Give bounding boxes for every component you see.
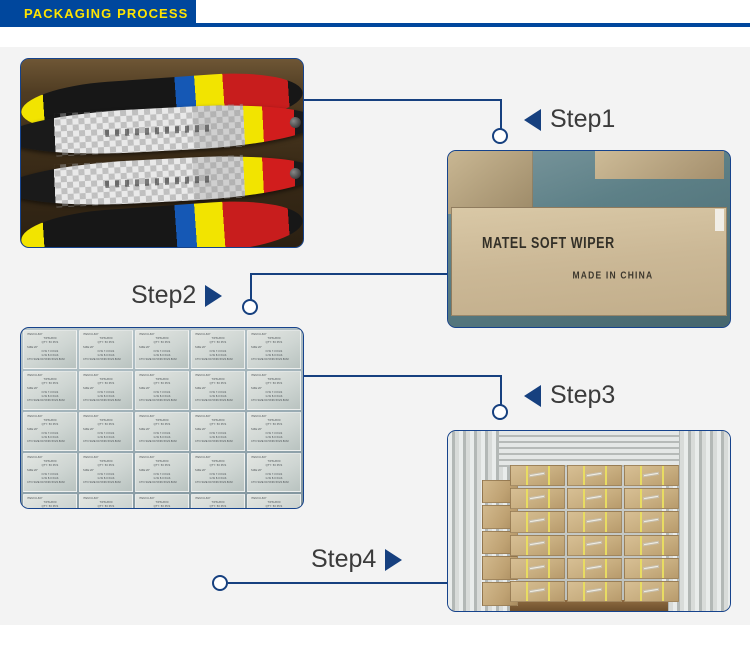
carton-shipping-mark: ITEM:CL607TIPSUP20QTY: 50 PCSSIZE:20"N.W… (195, 415, 241, 444)
triangle-left-icon (524, 385, 541, 407)
carton-shipping-mark: ITEM:CL607TIPSUP20QTY: 50 PCSSIZE:20"N.W… (27, 374, 73, 403)
carton-shipping-mark: ITEM:CL607TIPSUP20QTY: 50 PCSSIZE:20"N.W… (251, 497, 297, 509)
carton-shipping-mark: ITEM:CL607TIPSUP20QTY: 50 PCSSIZE:20"N.W… (251, 456, 297, 485)
photo2-background-carton-top (595, 151, 725, 179)
carton-tag (643, 472, 659, 478)
triangle-right-icon (385, 549, 402, 571)
container-carton (567, 511, 622, 532)
carton-label-cell: ITEM:CL607TIPSUP20QTY: 50 PCSSIZE:20"N.W… (135, 453, 189, 492)
carton-shipping-mark: ITEM:CL607TIPSUP20QTY: 50 PCSSIZE:20"N.W… (27, 415, 73, 444)
connector-step3-horizontal (303, 375, 502, 377)
carton-label-cell: ITEM:CL607TIPSUP20QTY: 50 PCSSIZE:20"N.W… (191, 371, 245, 410)
step-label-step2: Step2 (131, 282, 222, 309)
carton-label-cell: ITEM:CL607TIPSUP20QTY: 50 PCSSIZE:20"N.W… (23, 330, 77, 369)
page-header: PACKAGING PROCESS (0, 0, 750, 27)
container-carton (510, 511, 565, 532)
container-carton (510, 488, 565, 509)
carton-label-cell: ITEM:CL607TIPSUP20QTY: 50 PCSSIZE:20"N.W… (23, 371, 77, 410)
carton-shipping-mark: ITEM:CL607TIPSUP20QTY: 50 PCSSIZE:20"N.W… (139, 456, 185, 485)
carton-tag (529, 495, 545, 501)
carton-brand-text: MATEL SOFT WIPER (482, 234, 615, 252)
container-carton (624, 488, 679, 509)
carton-label-cell: ITEM:CL607TIPSUP20QTY: 50 PCSSIZE:20"N.W… (79, 494, 133, 509)
carton-label-cell: ITEM:CL607TIPSUP20QTY: 50 PCSSIZE:20"N.W… (23, 412, 77, 451)
carton-label-cell: ITEM:CL607TIPSUP20QTY: 50 PCSSIZE:20"N.W… (191, 494, 245, 509)
photo-container-loading (447, 430, 731, 612)
connector-step2-horizontal (250, 273, 448, 275)
carton-label-cell: ITEM:CL607TIPSUP20QTY: 50 PCSSIZE:20"N.W… (191, 412, 245, 451)
container-carton (624, 465, 679, 486)
container-carton (567, 558, 622, 579)
carton-label-cell: ITEM:CL607TIPSUP20QTY: 50 PCSSIZE:20"N.W… (135, 371, 189, 410)
carton-tag (643, 588, 659, 594)
carton-shipping-mark: ITEM:CL607TIPSUP20QTY: 50 PCSSIZE:20"N.W… (83, 456, 129, 485)
carton-label-cell: ITEM:CL607TIPSUP20QTY: 50 PCSSIZE:20"N.W… (247, 412, 301, 451)
carton-tag (643, 541, 659, 547)
photo-master-carton: MATEL SOFT WIPER MADE IN CHINA (447, 150, 731, 328)
carton-label-cell: ITEM:CL607TIPSUP20QTY: 50 PCSSIZE:20"N.W… (191, 330, 245, 369)
step2-text: Step2 (131, 282, 196, 309)
carton-shipping-mark: ITEM:CL607TIPSUP20QTY: 50 PCSSIZE:20"N.W… (83, 415, 129, 444)
photo3-carton-grid: ITEM:CL607TIPSUP20QTY: 50 PCSSIZE:20"N.W… (21, 328, 303, 508)
step-label-step3: Step3 (524, 382, 615, 409)
photo-wiper-blades (20, 58, 304, 248)
triangle-left-icon (524, 109, 541, 131)
container-carton (624, 535, 679, 556)
photo2-tape (715, 209, 724, 231)
photo2-背景-carton-left (448, 151, 533, 214)
photo-stacked-cartons: ITEM:CL607TIPSUP20QTY: 50 PCSSIZE:20"N.W… (20, 327, 304, 509)
carton-label-cell: ITEM:CL607TIPSUP20QTY: 50 PCSSIZE:20"N.W… (135, 412, 189, 451)
carton-label-cell: ITEM:CL607TIPSUP20QTY: 50 PCSSIZE:20"N.W… (79, 371, 133, 410)
node-step2 (242, 299, 258, 315)
step4-text: Step4 (311, 546, 376, 573)
container-carton (510, 581, 565, 602)
packaging-process-page: PACKAGING PROCESS Step1 Step2 Step3 Step… (0, 0, 750, 650)
triangle-right-icon (205, 285, 222, 307)
container-carton (567, 581, 622, 602)
step1-text: Step1 (550, 106, 615, 133)
carton-shipping-mark: ITEM:CL607TIPSUP20QTY: 50 PCSSIZE:20"N.W… (251, 415, 297, 444)
carton-tag (529, 472, 545, 477)
carton-tag (586, 472, 602, 478)
carton-tag (586, 495, 602, 501)
carton-shipping-mark: ITEM:CL607TIPSUP20QTY: 50 PCSSIZE:20"N.W… (251, 333, 297, 362)
header-rule (196, 23, 750, 27)
carton-shipping-mark: ITEM:CL607TIPSUP20QTY: 50 PCSSIZE:20"N.W… (139, 497, 185, 509)
carton-tag (529, 588, 545, 593)
carton-tag (643, 518, 659, 524)
carton-label-cell: ITEM:CL607TIPSUP20QTY: 50 PCSSIZE:20"N.W… (247, 453, 301, 492)
container-carton (510, 465, 565, 486)
container-carton (510, 558, 565, 579)
carton-label-cell: ITEM:CL607TIPSUP20QTY: 50 PCSSIZE:20"N.W… (247, 330, 301, 369)
carton-shipping-mark: ITEM:CL607TIPSUP20QTY: 50 PCSSIZE:20"N.W… (139, 333, 185, 362)
carton-shipping-mark: ITEM:CL607TIPSUP20QTY: 50 PCSSIZE:20"N.W… (83, 333, 129, 362)
carton-tag (643, 564, 659, 570)
carton-tag (586, 564, 602, 570)
carton-label-cell: ITEM:CL607TIPSUP20QTY: 50 PCSSIZE:20"N.W… (247, 371, 301, 410)
carton-shipping-mark: ITEM:CL607TIPSUP20QTY: 50 PCSSIZE:20"N.W… (195, 456, 241, 485)
photo4-main-stack (510, 465, 679, 602)
carton-shipping-mark: ITEM:CL607TIPSUP20QTY: 50 PCSSIZE:20"N.W… (27, 456, 73, 485)
connector-step4-horizontal (228, 582, 450, 584)
carton-shipping-mark: ITEM:CL607TIPSUP20QTY: 50 PCSSIZE:20"N.W… (251, 374, 297, 403)
carton-shipping-mark: ITEM:CL607TIPSUP20QTY: 50 PCSSIZE:20"N.W… (195, 333, 241, 362)
carton-shipping-mark: ITEM:CL607TIPSUP20QTY: 50 PCSSIZE:20"N.W… (195, 497, 241, 509)
node-step3 (492, 404, 508, 420)
carton-tag (529, 564, 545, 570)
container-carton (567, 535, 622, 556)
carton-shipping-mark: ITEM:CL607TIPSUP20QTY: 50 PCSSIZE:20"N.W… (83, 497, 129, 509)
carton-shipping-mark: ITEM:CL607TIPSUP20QTY: 50 PCSSIZE:20"N.W… (27, 333, 73, 362)
step-label-step1: Step1 (524, 106, 615, 133)
carton-label-cell: ITEM:CL607TIPSUP20QTY: 50 PCSSIZE:20"N.W… (191, 453, 245, 492)
carton-label-cell: ITEM:CL607TIPSUP20QTY: 50 PCSSIZE:20"N.W… (247, 494, 301, 509)
carton-tag (529, 541, 545, 547)
carton-shipping-mark: ITEM:CL607TIPSUP20QTY: 50 PCSSIZE:20"N.W… (195, 374, 241, 403)
photo2-carton-face: MATEL SOFT WIPER MADE IN CHINA (451, 207, 727, 316)
carton-label-cell: ITEM:CL607TIPSUP20QTY: 50 PCSSIZE:20"N.W… (79, 453, 133, 492)
footer-spacer (0, 625, 750, 650)
container-carton (624, 581, 679, 602)
carton-shipping-mark: ITEM:CL607TIPSUP20QTY: 50 PCSSIZE:20"N.W… (27, 497, 73, 509)
container-carton (567, 465, 622, 486)
carton-tag (643, 495, 659, 501)
carton-shipping-mark: ITEM:CL607TIPSUP20QTY: 50 PCSSIZE:20"N.W… (139, 374, 185, 403)
photo4-container-ceiling (499, 431, 680, 467)
carton-label-cell: ITEM:CL607TIPSUP20QTY: 50 PCSSIZE:20"N.W… (79, 412, 133, 451)
carton-shipping-mark: ITEM:CL607TIPSUP20QTY: 50 PCSSIZE:20"N.W… (139, 415, 185, 444)
carton-label-cell: ITEM:CL607TIPSUP20QTY: 50 PCSSIZE:20"N.W… (135, 330, 189, 369)
container-carton (624, 511, 679, 532)
container-carton (567, 488, 622, 509)
node-step1 (492, 128, 508, 144)
container-carton (624, 558, 679, 579)
node-step4 (212, 575, 228, 591)
carton-origin-text: MADE IN CHINA (573, 269, 654, 281)
connector-step1-horizontal (303, 99, 502, 101)
carton-label-cell: ITEM:CL607TIPSUP20QTY: 50 PCSSIZE:20"N.W… (79, 330, 133, 369)
carton-label-cell: ITEM:CL607TIPSUP20QTY: 50 PCSSIZE:20"N.W… (23, 494, 77, 509)
carton-label-cell: ITEM:CL607TIPSUP20QTY: 50 PCSSIZE:20"N.W… (135, 494, 189, 509)
container-carton (510, 535, 565, 556)
carton-tag (586, 541, 602, 547)
carton-tag (586, 588, 602, 594)
carton-tag (529, 518, 545, 523)
step-label-step4: Step4 (311, 546, 402, 573)
carton-label-cell: ITEM:CL607TIPSUP20QTY: 50 PCSSIZE:20"N.W… (23, 453, 77, 492)
carton-tag (586, 518, 602, 524)
carton-shipping-mark: ITEM:CL607TIPSUP20QTY: 50 PCSSIZE:20"N.W… (83, 374, 129, 403)
step3-text: Step3 (550, 382, 615, 409)
page-title: PACKAGING PROCESS (24, 6, 188, 21)
